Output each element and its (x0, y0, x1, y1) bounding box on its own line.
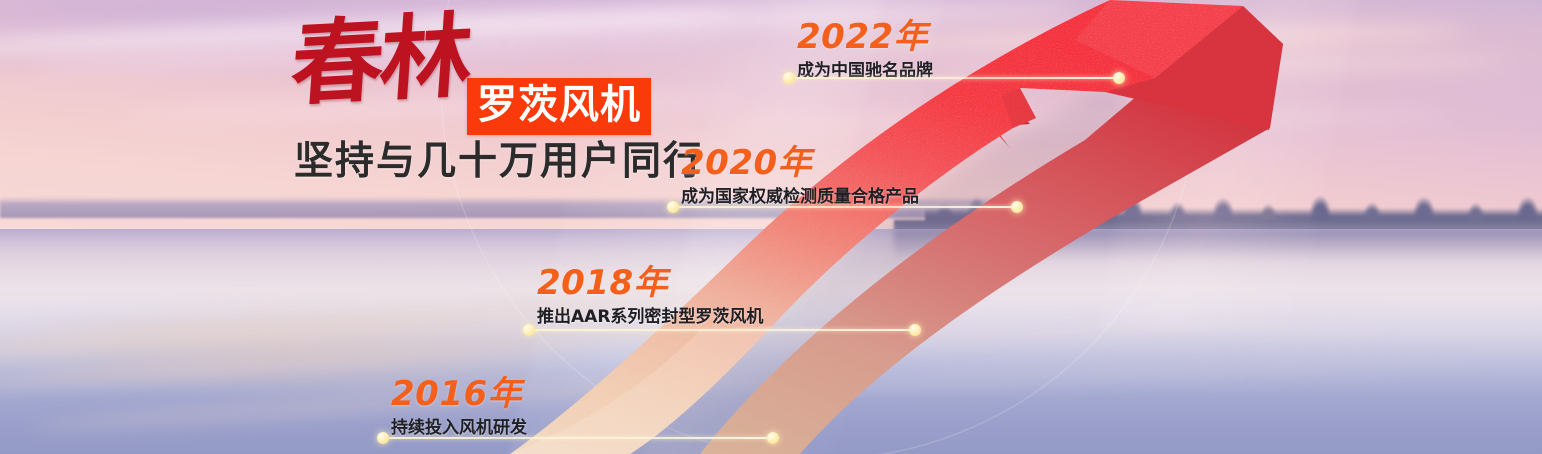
milestone-year: 2020年 (681, 146, 919, 180)
treeline-reflection (894, 229, 1542, 261)
milestone-2020: 2020年 成为国家权威检测质量合格产品 (681, 146, 919, 206)
connector-dot-right (767, 432, 779, 444)
connector-dot-left (377, 432, 389, 444)
connector-dot-left (783, 72, 795, 84)
milestone-year: 2022年 (797, 20, 933, 54)
connector-dot-right (1011, 201, 1023, 213)
connector-dot-right (1113, 72, 1125, 84)
connector-dot-left (667, 201, 679, 213)
company-milestone-banner: 春林 罗茨风机 坚持与几十万用户同行 2022年 成为中国驰名品牌 2020年 … (0, 0, 1542, 454)
connector-line (789, 77, 1119, 79)
connector-line-2018 (523, 323, 921, 337)
connector-line-2022 (783, 71, 1125, 85)
connector-dot-right (909, 324, 921, 336)
milestone-year: 2016年 (391, 377, 527, 411)
brand-calligraphy-title: 春林 (288, 9, 471, 110)
product-name-badge: 罗茨风机 (467, 78, 651, 135)
connector-line-2016 (377, 431, 779, 445)
background-sunset-lake-photo (0, 0, 1542, 454)
brand-subtitle: 坚持与几十万用户同行 (294, 142, 704, 181)
connector-line (383, 437, 773, 439)
milestone-year: 2018年 (537, 266, 763, 300)
connector-line (529, 329, 915, 331)
connector-line (673, 206, 1017, 208)
connector-dot-left (523, 324, 535, 336)
milestone-2018: 2018年 推出AAR系列密封型罗茨风机 (537, 266, 763, 326)
connector-line-2020 (667, 200, 1023, 214)
milestone-2016: 2016年 持续投入风机研发 (391, 377, 527, 437)
